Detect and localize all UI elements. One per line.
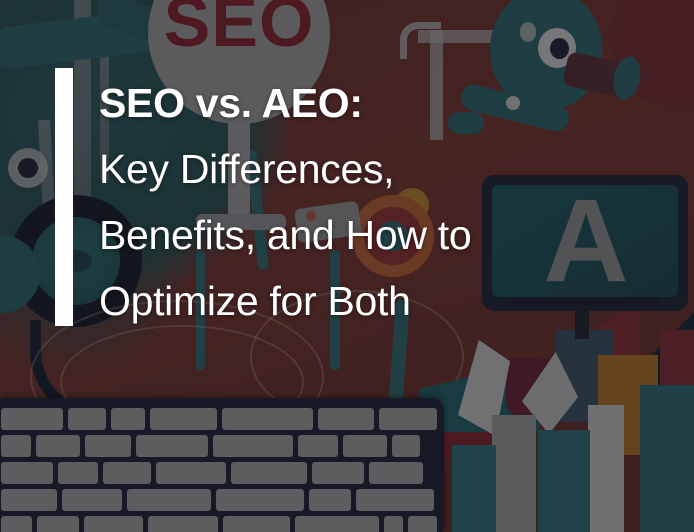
keyboard-key	[384, 516, 403, 532]
keyboard-key	[1, 489, 57, 511]
keyboard-key	[127, 489, 211, 511]
keyboard-key	[379, 408, 437, 430]
keyboard-key	[103, 462, 151, 484]
keyboard-key	[1, 516, 32, 532]
keyboard-key	[356, 489, 434, 511]
keyboard-key	[318, 408, 374, 430]
keyboard-key	[343, 435, 387, 457]
keyboard-key	[62, 489, 122, 511]
keyboard-key	[369, 462, 423, 484]
keyboard-key	[392, 435, 420, 457]
keyboard-key	[408, 516, 437, 532]
page-title: SEO vs. AEO: Key Differences, Benefits, …	[99, 70, 659, 334]
blog-hero-banner: SEO	[0, 0, 694, 532]
keyboard-key	[84, 516, 143, 532]
keyboard-key	[36, 435, 80, 457]
keyboard-key	[298, 435, 338, 457]
keyboard-key	[312, 462, 364, 484]
keyboard-key	[222, 408, 313, 430]
keyboard-key	[213, 435, 293, 457]
keyboard-key	[1, 408, 63, 430]
keyboard-row	[1, 489, 437, 511]
keyboard-key	[216, 489, 304, 511]
keyboard-key	[68, 408, 106, 430]
page-title-line-1: SEO vs. AEO:	[99, 70, 659, 136]
keyboard-key	[231, 462, 307, 484]
keyboard-key	[223, 516, 290, 532]
keyboard-key	[1, 462, 53, 484]
keyboard-key	[148, 516, 219, 532]
keyboard-key	[309, 489, 351, 511]
keyboard-key	[85, 435, 131, 457]
keyboard-row	[1, 408, 437, 430]
title-accent-bar	[55, 68, 73, 326]
keyboard-key	[136, 435, 208, 457]
keyboard-key	[1, 435, 31, 457]
keyboard-row	[1, 516, 437, 532]
keyboard-key	[58, 462, 98, 484]
keyboard-row	[1, 462, 437, 484]
keyboard-key	[150, 408, 217, 430]
keyboard-key	[156, 462, 226, 484]
page-title-line-4: Optimize for Both	[99, 268, 659, 334]
keyboard-row	[1, 435, 437, 457]
keyboard-key	[37, 516, 79, 532]
keyboard-key	[111, 408, 145, 430]
page-title-line-2: Key Differences,	[99, 136, 659, 202]
keyboard-key	[295, 516, 379, 532]
keyboard-illustration	[0, 398, 444, 532]
page-title-line-3: Benefits, and How to	[99, 202, 659, 268]
